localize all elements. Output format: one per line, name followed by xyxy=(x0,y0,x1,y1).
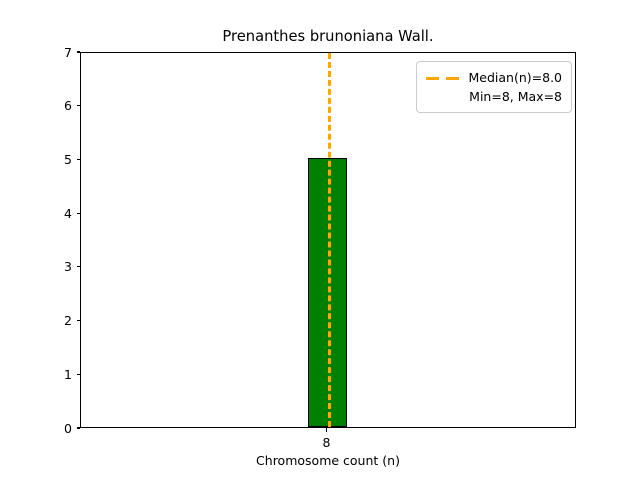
legend: Median(n)=8.0Min=8, Max=8 xyxy=(416,61,573,113)
legend-line-swatch xyxy=(426,71,460,85)
y-axis: 01234567 xyxy=(0,52,80,428)
y-tick-label: 2 xyxy=(64,312,72,329)
plot-area: Median(n)=8.0Min=8, Max=8 xyxy=(80,52,576,428)
chart-figure: Prenanthes brunoniana Wall. 01234567 Num… xyxy=(0,0,640,480)
legend-item: Median(n)=8.0 xyxy=(426,68,563,87)
y-tick-label: 5 xyxy=(64,151,72,168)
x-tick-label: 8 xyxy=(307,434,347,451)
y-tick-label: 1 xyxy=(64,366,72,383)
x-axis-label: Chromosome count (n) xyxy=(80,452,576,469)
y-tick-label: 3 xyxy=(64,258,72,275)
x-tick-mark xyxy=(326,428,327,432)
y-tick-label: 7 xyxy=(64,44,72,61)
y-tick-label: 6 xyxy=(64,97,72,114)
legend-label: Median(n)=8.0 xyxy=(469,68,563,87)
median-line xyxy=(328,53,331,427)
page-title: Prenanthes brunoniana Wall. xyxy=(80,28,576,46)
y-tick-label: 4 xyxy=(64,205,72,222)
y-tick-label: 0 xyxy=(64,420,72,437)
legend-label: Min=8, Max=8 xyxy=(469,87,562,106)
legend-item: Min=8, Max=8 xyxy=(426,87,563,106)
